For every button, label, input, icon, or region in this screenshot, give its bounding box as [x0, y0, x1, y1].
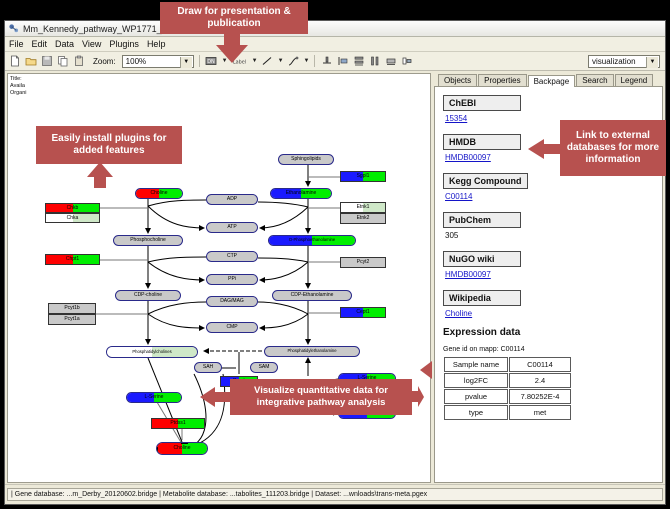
selection-handle[interactable] — [156, 442, 158, 444]
save-icon[interactable] — [40, 55, 53, 68]
node-label: Pcyt1b — [64, 306, 79, 311]
node-label: Phosphatidylcholines — [132, 350, 171, 354]
db-link-wikipedia[interactable]: Choline — [445, 309, 654, 318]
node-label: O-Phosphoethanolamine — [289, 238, 335, 242]
pathway-node-sah[interactable]: SAH — [194, 362, 222, 373]
node-label: Chpt1 — [66, 257, 79, 262]
callout-visualize-arrow-right-icon — [410, 386, 424, 408]
toolbar-separator-2 — [314, 55, 315, 67]
node-label: SAM — [259, 365, 270, 370]
status-bar-text: | Gene database: ...m_Derby_20120602.bri… — [7, 488, 663, 501]
tool-bar: Zoom: 100% ▼ DN ▼ Label ▼ ▼ ▼ — [5, 52, 665, 71]
pathway-node-cept1[interactable]: Cept1 — [340, 307, 386, 318]
pathway-node-cdpcholine[interactable]: CDP-choline — [115, 290, 181, 301]
node-label: Ethanolamine — [286, 191, 317, 196]
expr-key-type: type — [444, 405, 508, 420]
node-label: Phosphocholine — [130, 238, 166, 243]
pathway-node-ppi[interactable]: PPi — [206, 274, 258, 285]
title-bar: Mm_Kennedy_pathway_WP1771_45176.gpml — [5, 21, 665, 37]
pathway-node-cdpethanolamine[interactable]: CDP-Ethanolamine — [272, 290, 352, 301]
node-label: ADP — [227, 197, 237, 202]
pathway-node-phosphocholine[interactable]: Phosphocholine — [113, 235, 183, 246]
node-label: DAG/MAG — [220, 299, 244, 304]
callout-plugins: Easily install plugins for added feature… — [36, 126, 182, 164]
node-label: Cept1 — [356, 310, 369, 315]
paste-icon[interactable] — [72, 55, 85, 68]
screenshot-root: Mm_Kennedy_pathway_WP1771_45176.gpml Fil… — [0, 0, 670, 509]
node-label: Pcyt1a — [64, 317, 79, 322]
menu-help[interactable]: Help — [147, 39, 166, 49]
pathway-node-choline_sel[interactable]: Choline — [156, 442, 208, 455]
pathway-node-sphingolipids[interactable]: Sphingolipids — [278, 154, 334, 165]
visualization-value: visualization — [592, 57, 636, 66]
align-top-icon[interactable] — [320, 55, 333, 68]
callout-plugins-arrow-icon — [86, 162, 114, 188]
pathway-node-sgpl1[interactable]: Sgpl1 — [340, 171, 386, 182]
callout-visualize: Visualize quantitative data for integrat… — [230, 379, 412, 415]
pathway-node-chkb[interactable]: Chkb — [45, 203, 100, 213]
callout-visualize-text: Visualize quantitative data for integrat… — [236, 385, 406, 409]
tab-search[interactable]: Search — [576, 74, 613, 86]
line-icon[interactable] — [261, 55, 274, 68]
stack-icon[interactable] — [352, 55, 365, 68]
align-left-icon[interactable] — [336, 55, 349, 68]
table-row: log2FC 2.4 — [444, 373, 571, 388]
db-header-chebi: ChEBI — [443, 95, 521, 111]
new-file-icon[interactable] — [8, 55, 21, 68]
pathway-node-phosphatidylcholine[interactable]: Phosphatidylcholines — [106, 346, 198, 358]
node-label: Choline — [174, 446, 191, 451]
toolbar-separator — [199, 55, 200, 67]
pathway-meta: Title: Availa Organi — [10, 76, 27, 97]
pathway-node-sam[interactable]: SAM — [250, 362, 278, 373]
pathway-node-dagmag[interactable]: DAG/MAG — [206, 296, 258, 307]
label-dropdown-icon[interactable]: ▼ — [252, 58, 258, 64]
node-label: CDP-Ethanolamine — [291, 293, 334, 298]
node-label: ATP — [227, 225, 236, 230]
node-label: Chkb — [67, 206, 79, 211]
distribute-icon[interactable] — [368, 55, 381, 68]
copy-icon[interactable] — [56, 55, 69, 68]
pathway-node-ctp[interactable]: CTP — [206, 251, 258, 262]
interaction-icon[interactable] — [287, 55, 300, 68]
node-label: L-Serine — [145, 395, 164, 400]
node-label: Phosphatidylethanolamine — [287, 349, 336, 353]
menu-bar: File Edit Data View Plugins Help — [5, 37, 665, 52]
callout-draw-text: Draw for presentation & publication — [166, 6, 302, 30]
pathway-canvas[interactable]: Title: Availa Organi — [7, 73, 431, 483]
pathway-node-chka[interactable]: Chka — [45, 213, 100, 223]
table-row: Sample name C00114 — [444, 357, 571, 372]
menu-edit[interactable]: Edit — [32, 39, 48, 49]
line-dropdown-icon[interactable]: ▼ — [278, 58, 284, 64]
node-label: CMP — [226, 325, 237, 330]
pathway-node-etnk1[interactable]: Etnk1 — [340, 202, 386, 213]
pathway-node-phosphatidylethanolamine[interactable]: Phosphatidylethanolamine — [264, 346, 360, 357]
tab-objects[interactable]: Objects — [438, 74, 477, 86]
zoom-label: Zoom: — [93, 57, 116, 66]
pathway-node-chpt1[interactable]: Chpt1 — [45, 254, 100, 265]
gene-id-on-mapp: Gene id on mapp: C00114 — [443, 346, 654, 353]
visualization-chevron-down-icon[interactable]: ▼ — [646, 57, 658, 68]
tab-backpage[interactable]: Backpage — [528, 75, 576, 87]
pathway-node-ethanolamine_top[interactable]: Ethanolamine — [270, 188, 332, 199]
selection-handle[interactable] — [181, 442, 188, 444]
callout-draw: Draw for presentation & publication — [160, 2, 308, 34]
node-label: Ptdss1 — [170, 421, 185, 426]
node-label: Etnk1 — [357, 205, 370, 210]
db-link-nugo[interactable]: HMDB00097 — [445, 270, 654, 279]
expr-val-type: met — [509, 405, 571, 420]
node-label: SAH — [203, 365, 213, 370]
db-link-kegg[interactable]: C00114 — [445, 192, 654, 201]
pathway-node-lserine_left[interactable]: L-Serine — [126, 392, 182, 403]
node-label: Chka — [67, 216, 79, 221]
pathway-node-atp[interactable]: ATP — [206, 222, 258, 233]
zoom-value: 100% — [126, 57, 146, 66]
meta-availability: Availa — [10, 83, 27, 90]
pathway-node-pcyt2[interactable]: Pcyt2 — [340, 257, 386, 268]
callout-draw-arrow-icon — [215, 33, 249, 63]
pathway-node-adp[interactable]: ADP — [206, 194, 258, 205]
interaction-dropdown-icon[interactable]: ▼ — [304, 58, 310, 64]
status-bar: | Gene database: ...m_Derby_20120602.bri… — [5, 484, 665, 504]
callout-links-arrow-icon — [528, 138, 562, 160]
node-label: Choline — [151, 191, 168, 196]
visualization-combo[interactable]: visualization ▼ — [588, 55, 660, 68]
callout-links-text: Link to external databases for more info… — [566, 130, 660, 166]
node-label: CDP-choline — [134, 293, 162, 298]
table-row: pvalue 7.80252E-4 — [444, 389, 571, 404]
group-icon[interactable] — [384, 55, 397, 68]
table-row: type met — [444, 405, 571, 420]
tab-properties[interactable]: Properties — [478, 74, 526, 86]
callout-expression-arrow-icon — [420, 360, 436, 380]
application-window: Mm_Kennedy_pathway_WP1771_45176.gpml Fil… — [4, 20, 666, 505]
node-label: Sgpl1 — [357, 174, 370, 179]
expr-key-pvalue: pvalue — [444, 389, 508, 404]
menu-view[interactable]: View — [82, 39, 101, 49]
zoom-combo[interactable]: 100% ▼ — [122, 55, 194, 68]
tab-legend[interactable]: Legend — [615, 74, 654, 86]
pathway-node-pcyt1b[interactable]: Pcyt1b — [48, 303, 96, 314]
expr-key-log2fc: log2FC — [444, 373, 508, 388]
pathvisio-icon — [8, 23, 19, 34]
expr-val-pvalue: 7.80252E-4 — [509, 389, 571, 404]
pathway-node-ptdss1[interactable]: Ptdss1 — [151, 418, 205, 429]
side-panel-tabs: Objects Properties Backpage Search Legen… — [434, 73, 663, 87]
pathway-node-ophosphoethanolamine[interactable]: O-Phosphoethanolamine — [268, 235, 356, 246]
menu-plugins[interactable]: Plugins — [109, 39, 139, 49]
pathway-node-pcyt1a[interactable]: Pcyt1a — [48, 314, 96, 325]
node-label: Etnk2 — [357, 216, 370, 221]
menu-data[interactable]: Data — [55, 39, 74, 49]
node-label: Pcyt2 — [357, 260, 370, 265]
db-header-wikipedia: Wikipedia — [443, 290, 521, 306]
node-label: PPi — [228, 277, 236, 282]
expr-key-sample-name: Sample name — [444, 357, 508, 372]
db-header-hmdb: HMDB — [443, 134, 521, 150]
db-header-kegg: Kegg Compound — [443, 173, 528, 189]
callout-visualize-arrow-icon — [200, 386, 232, 408]
order-icon[interactable] — [400, 55, 413, 68]
pathway-node-cmp[interactable]: CMP — [206, 322, 258, 333]
expression-table: Sample name C00114 log2FC 2.4 pvalue 7.8… — [443, 356, 572, 421]
node-label: CTP — [227, 254, 237, 259]
callout-plugins-text: Easily install plugins for added feature… — [42, 133, 176, 157]
selection-handle[interactable] — [156, 447, 158, 454]
pathway-node-etnk2[interactable]: Etnk2 — [340, 213, 386, 224]
callout-links: Link to external databases for more info… — [560, 120, 666, 176]
db-value-pubchem: 305 — [445, 231, 654, 240]
node-label: Sphingolipids — [291, 157, 321, 162]
pathway-node-choline_top[interactable]: Choline — [135, 188, 183, 199]
menu-file[interactable]: File — [9, 39, 24, 49]
open-folder-icon[interactable] — [24, 55, 37, 68]
db-header-nugo: NuGO wiki — [443, 251, 521, 267]
db-header-pubchem: PubChem — [443, 212, 521, 228]
chevron-down-icon[interactable]: ▼ — [180, 57, 192, 68]
expr-val-sample-name: C00114 — [509, 357, 571, 372]
meta-title: Title: — [10, 76, 27, 83]
expression-data-heading: Expression data — [443, 327, 654, 338]
meta-organism: Organi — [10, 90, 27, 97]
expr-val-log2fc: 2.4 — [509, 373, 571, 388]
